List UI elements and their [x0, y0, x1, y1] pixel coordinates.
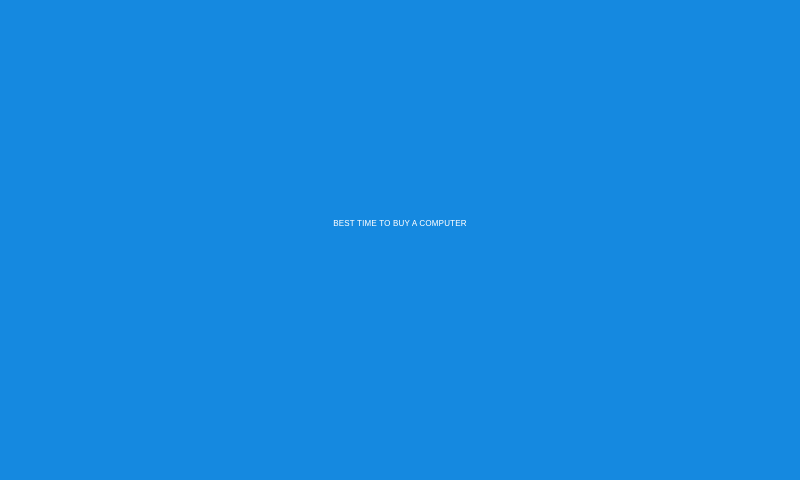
title-container: BEST TIME TO BUY A COMPUTER — [0, 0, 800, 480]
featured-image-card: BEST TIME TO BUY A COMPUTER — [0, 0, 800, 480]
page-title: BEST TIME TO BUY A COMPUTER — [0, 219, 800, 228]
